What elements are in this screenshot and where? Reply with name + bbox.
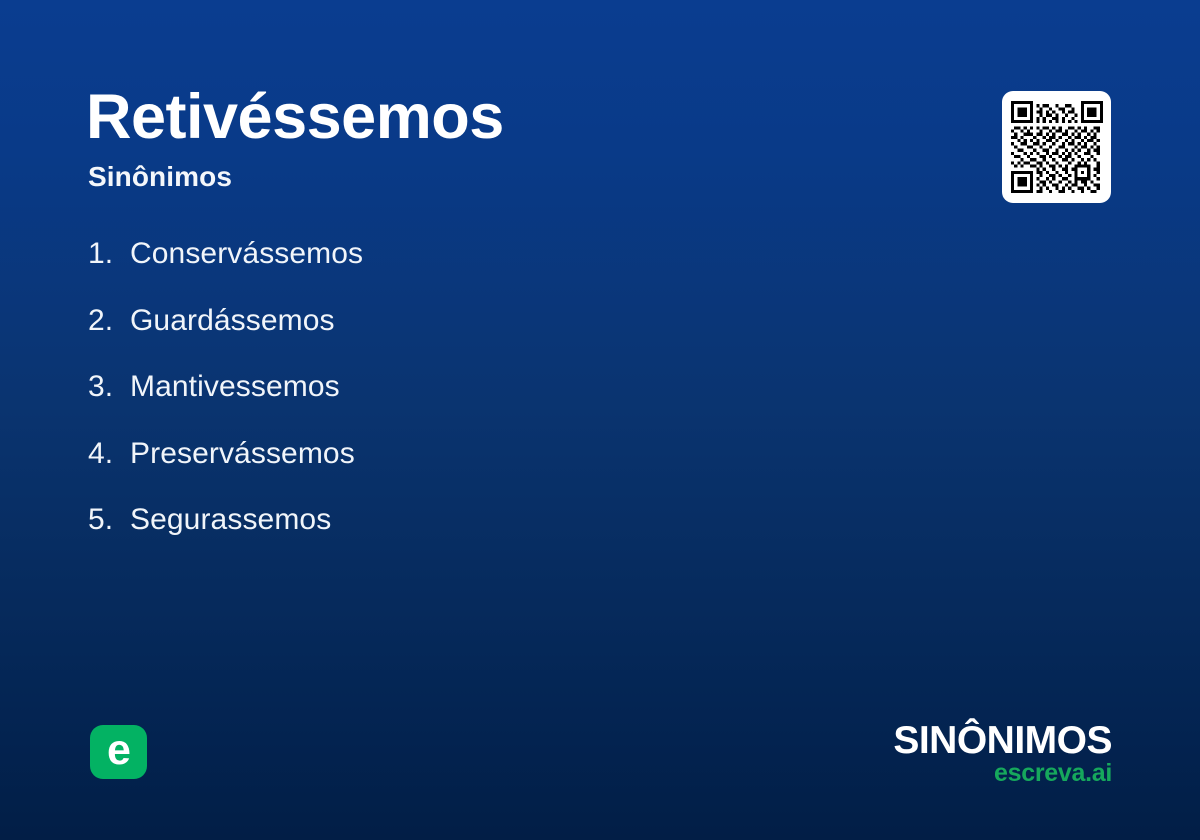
synonym-card: Retivéssemos Sinônimos 1. Conservássemos…	[0, 0, 1200, 840]
list-item: 2. Guardássemos	[88, 305, 848, 372]
list-item-index: 1.	[88, 238, 130, 270]
headline-block: Retivéssemos Sinônimos	[86, 86, 906, 191]
list-item-index: 5.	[88, 504, 130, 536]
list-item-index: 4.	[88, 438, 130, 470]
list-item: 1. Conservássemos	[88, 238, 848, 305]
list-item-word: Preservássemos	[130, 438, 355, 470]
list-item: 4. Preservássemos	[88, 438, 848, 505]
sinonimos-wordmark: SINÔNIMOS escreva.ai	[893, 722, 1112, 786]
brand-mark-letter: e	[107, 729, 130, 772]
list-item-index: 3.	[88, 371, 130, 403]
page-title: Retivéssemos	[86, 86, 906, 149]
list-item-word: Mantivessemos	[130, 371, 340, 403]
list-item: 3. Mantivessemos	[88, 371, 848, 438]
list-item-word: Guardássemos	[130, 305, 335, 337]
list-item: 5. Segurassemos	[88, 504, 848, 571]
wordmark-title: SINÔNIMOS	[893, 722, 1112, 760]
list-item-word: Segurassemos	[130, 504, 331, 536]
list-item-index: 2.	[88, 305, 130, 337]
qr-code-icon	[1011, 101, 1103, 193]
qr-code-panel[interactable]	[1002, 91, 1111, 203]
list-item-word: Conservássemos	[130, 238, 363, 270]
wordmark-domain: escreva.ai	[893, 761, 1112, 786]
escreva-e-logo-icon[interactable]: e	[90, 725, 147, 779]
synonym-list: 1. Conservássemos 2. Guardássemos 3. Man…	[88, 238, 848, 571]
page-subtitle: Sinônimos	[88, 163, 906, 191]
